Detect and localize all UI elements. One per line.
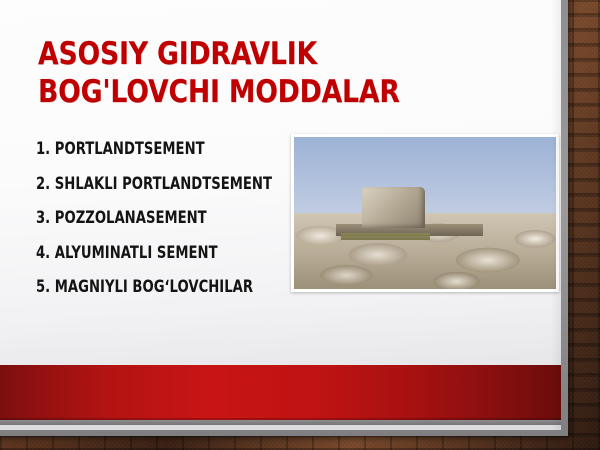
slide-canvas: Asosiy gidravlik bog'lovchi moddalar 1. … bbox=[0, 0, 600, 450]
list-item: 3. Pozzolanasement bbox=[36, 210, 276, 227]
list-item: 2. Shlakli portlandtsement bbox=[36, 176, 276, 193]
list-item: 4. Alyuminatli sement bbox=[36, 245, 276, 262]
photo-sea-stack bbox=[362, 187, 425, 228]
list-item: 5. Magniyli bogʻlovchilar bbox=[36, 279, 276, 296]
coastal-rock-photo bbox=[291, 134, 559, 292]
photo-content bbox=[294, 137, 556, 289]
photo-grass-strip bbox=[341, 233, 430, 241]
photo-sky bbox=[294, 137, 556, 221]
slide-surface: Asosiy gidravlik bog'lovchi moddalar 1. … bbox=[0, 0, 561, 430]
list-item: 1. Portlandtsement bbox=[36, 141, 276, 158]
footer-bottom-strip bbox=[0, 425, 561, 430]
slide-title: Asosiy gidravlik bog'lovchi moddalar bbox=[38, 36, 451, 112]
footer-accent-band bbox=[0, 365, 561, 420]
